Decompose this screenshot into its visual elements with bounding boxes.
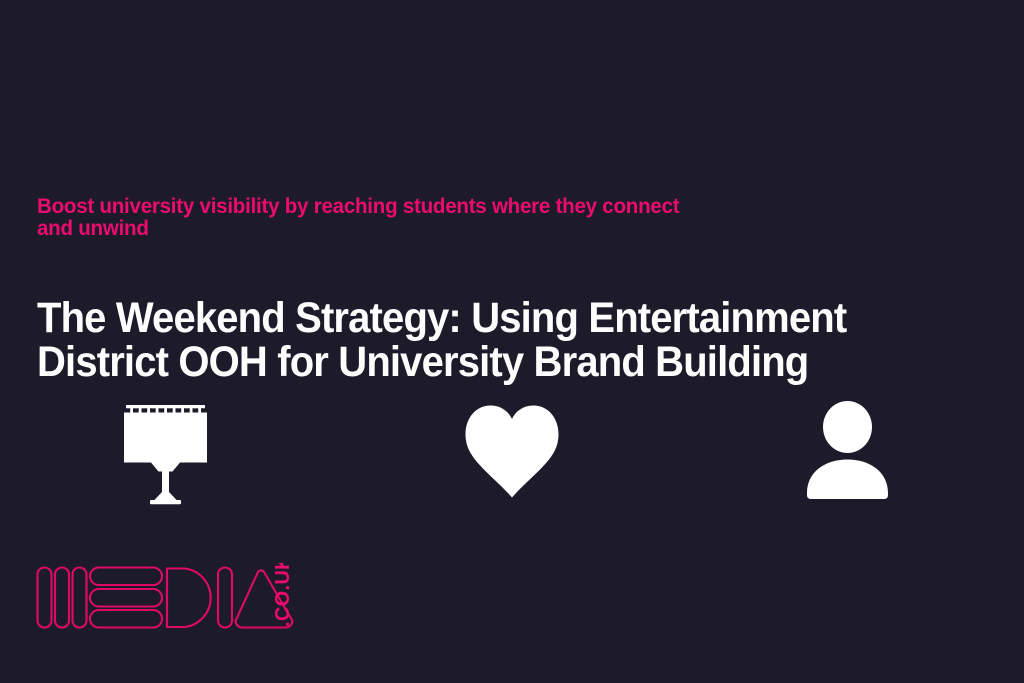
logo[interactable]: .CO.UK	[36, 563, 294, 633]
logo-suffix: .CO.UK	[272, 563, 294, 627]
page-title: The Weekend Strategy: Using Entertainmen…	[37, 296, 879, 384]
person-icon	[804, 400, 891, 505]
eyebrow-subtitle: Boost university visibility by reaching …	[37, 196, 706, 239]
billboard-icon	[123, 400, 208, 505]
icon-row	[0, 400, 1024, 505]
slide-canvas: Boost university visibility by reaching …	[0, 0, 1024, 683]
heart-icon	[464, 400, 560, 505]
